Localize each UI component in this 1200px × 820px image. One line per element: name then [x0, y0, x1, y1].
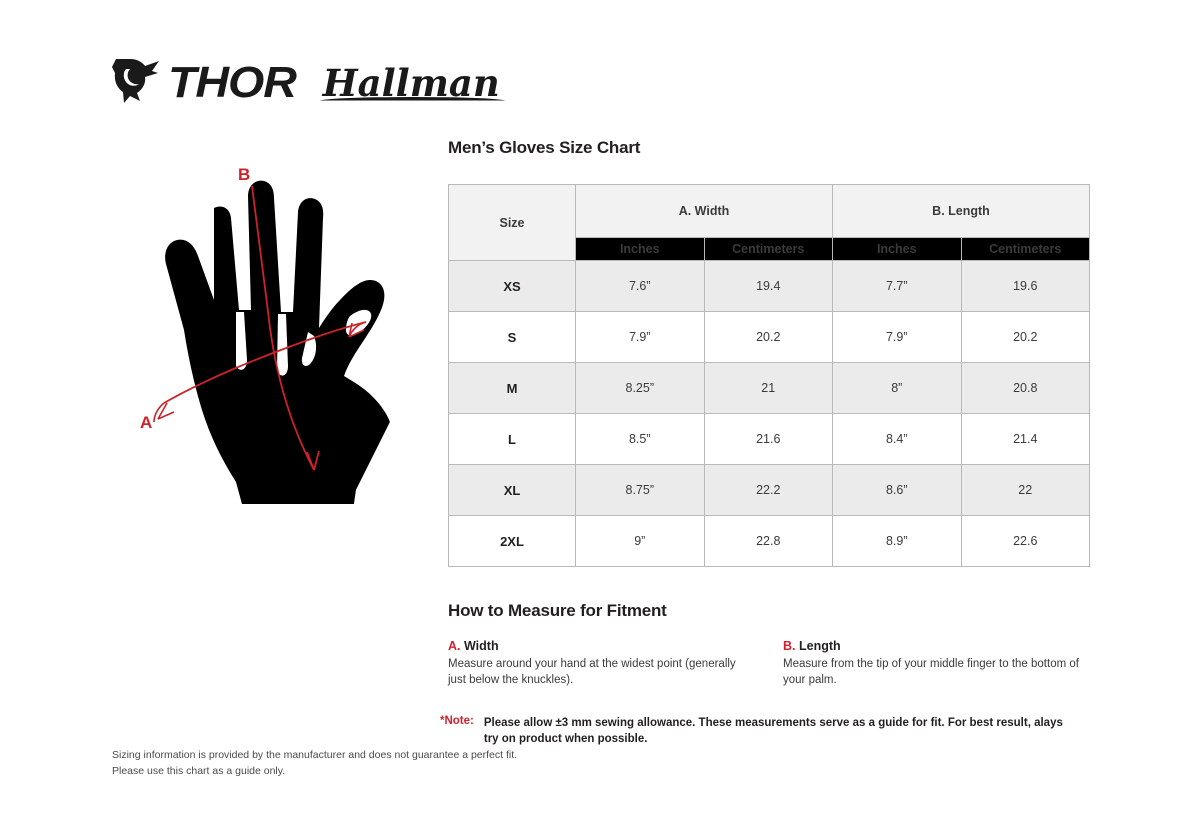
- cell-length-centimeters: 20.2: [961, 312, 1090, 363]
- column-header-width: A. Width: [576, 185, 833, 238]
- cell-size: S: [449, 312, 576, 363]
- cell-length-centimeters: 19.6: [961, 261, 1090, 312]
- footer-line-2: Please use this chart as a guide only.: [112, 763, 517, 779]
- measure-name-length: Length: [799, 639, 841, 653]
- cell-width-centimeters: 22.8: [704, 516, 833, 567]
- measure-item-length: B. Length Measure from the tip of your m…: [783, 639, 1086, 689]
- cell-length-inches: 8.9”: [833, 516, 962, 567]
- thor-helmet-icon: [112, 57, 164, 110]
- table-row: XS 7.6” 19.4 7.7” 19.6: [449, 261, 1090, 312]
- measure-description-length: Measure from the tip of your middle fing…: [783, 656, 1086, 689]
- brand-header: THOR Hallman: [112, 52, 500, 114]
- cell-length-inches: 8”: [833, 363, 962, 414]
- cell-width-inches: 8.25”: [576, 363, 705, 414]
- length-label-b: B: [238, 165, 250, 184]
- main-content: Men’s Gloves Size Chart Size A. Width B.…: [448, 138, 1088, 748]
- cell-length-inches: 7.7”: [833, 261, 962, 312]
- table-head: Size A. Width B. Length Inches Centimete…: [449, 185, 1090, 261]
- note-section: *Note: Please allow ±3 mm sewing allowan…: [440, 715, 1088, 748]
- cell-length-centimeters: 22: [961, 465, 1090, 516]
- thor-wordmark: THOR: [168, 61, 296, 105]
- table-row: 2XL 9” 22.8 8.9” 22.6: [449, 516, 1090, 567]
- cell-width-inches: 8.5”: [576, 414, 705, 465]
- unit-header-length-inches: Inches: [833, 238, 962, 261]
- cell-length-centimeters: 20.8: [961, 363, 1090, 414]
- cell-length-inches: 8.6”: [833, 465, 962, 516]
- table-row: M 8.25” 21 8” 20.8: [449, 363, 1090, 414]
- table-row: XL 8.75” 22.2 8.6” 22: [449, 465, 1090, 516]
- measure-label-width: A. Width: [448, 639, 751, 653]
- table-body: XS 7.6” 19.4 7.7” 19.6 S 7.9” 20.2 7.9” …: [449, 261, 1090, 567]
- unit-header-width-inches: Inches: [576, 238, 705, 261]
- measure-description-width: Measure around your hand at the widest p…: [448, 656, 751, 689]
- measure-label-length: B. Length: [783, 639, 1086, 653]
- note-text: Please allow ±3 mm sewing allowance. The…: [484, 715, 1074, 748]
- cell-length-centimeters: 21.4: [961, 414, 1090, 465]
- cell-width-centimeters: 21: [704, 363, 833, 414]
- cell-width-inches: 7.6”: [576, 261, 705, 312]
- cell-length-inches: 7.9”: [833, 312, 962, 363]
- cell-length-inches: 8.4”: [833, 414, 962, 465]
- measure-letter-a: A.: [448, 639, 461, 653]
- cell-width-inches: 9”: [576, 516, 705, 567]
- cell-width-centimeters: 22.2: [704, 465, 833, 516]
- cell-length-centimeters: 22.6: [961, 516, 1090, 567]
- table-row: S 7.9” 20.2 7.9” 20.2: [449, 312, 1090, 363]
- table-header-row-groups: Size A. Width B. Length: [449, 185, 1090, 238]
- measure-item-width: A. Width Measure around your hand at the…: [448, 639, 751, 689]
- table-row: L 8.5” 21.6 8.4” 21.4: [449, 414, 1090, 465]
- thor-logo: THOR: [112, 57, 289, 110]
- cell-width-centimeters: 19.4: [704, 261, 833, 312]
- width-label-a: A: [140, 413, 152, 432]
- hand-silhouette: [165, 181, 394, 512]
- how-to-measure-title: How to Measure for Fitment: [448, 601, 1088, 621]
- cell-size: 2XL: [449, 516, 576, 567]
- unit-header-length-centimeters: Centimeters: [961, 238, 1090, 261]
- measure-name-width: Width: [464, 639, 499, 653]
- column-header-length: B. Length: [833, 185, 1090, 238]
- page-title: Men’s Gloves Size Chart: [448, 138, 1088, 158]
- cell-size: L: [449, 414, 576, 465]
- cell-width-centimeters: 21.6: [704, 414, 833, 465]
- hand-measurement-diagram: B A: [118, 160, 438, 535]
- cell-width-inches: 8.75”: [576, 465, 705, 516]
- footer-disclaimer: Sizing information is provided by the ma…: [112, 747, 517, 780]
- size-chart-table: Size A. Width B. Length Inches Centimete…: [448, 184, 1090, 567]
- unit-header-width-centimeters: Centimeters: [704, 238, 833, 261]
- measure-letter-b: B.: [783, 639, 796, 653]
- column-header-size: Size: [449, 185, 576, 261]
- how-to-measure-section: How to Measure for Fitment A. Width Meas…: [448, 601, 1088, 689]
- cell-width-centimeters: 20.2: [704, 312, 833, 363]
- footer-line-1: Sizing information is provided by the ma…: [112, 747, 517, 763]
- cell-size: XS: [449, 261, 576, 312]
- hallman-logo: Hallman: [323, 65, 500, 102]
- cell-size: M: [449, 363, 576, 414]
- cell-width-inches: 7.9”: [576, 312, 705, 363]
- note-tag: *Note:: [440, 715, 474, 748]
- cell-size: XL: [449, 465, 576, 516]
